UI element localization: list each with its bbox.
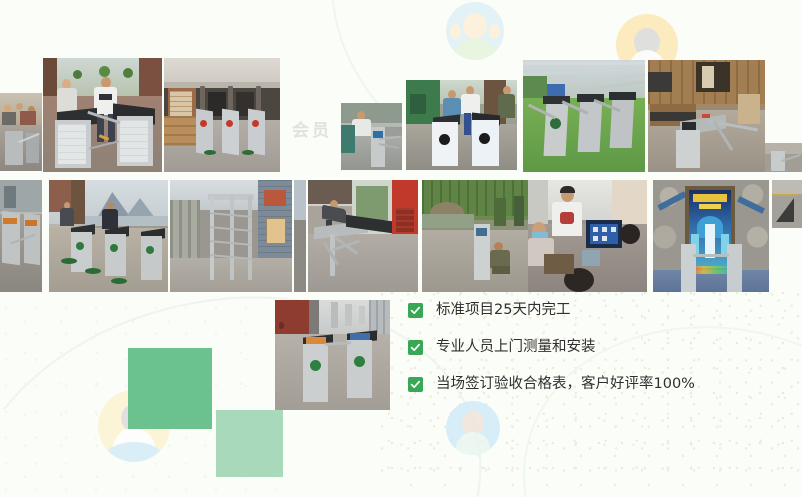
avatar-top-left-icon	[446, 2, 504, 60]
feature-label: 专业人员上门测量和安装	[436, 340, 596, 355]
gallery-photo	[341, 103, 402, 170]
feature-label: 当场签订验收合格表，客户好评率100%	[436, 377, 695, 392]
feature-label: 标准项目25天内完工	[436, 303, 570, 318]
gallery-photo	[294, 180, 306, 292]
gallery-photo	[528, 180, 647, 292]
gallery-photo	[0, 180, 42, 292]
gallery-photo	[0, 93, 42, 171]
feature-item: 当场签订验收合格表，客户好评率100%	[408, 377, 738, 392]
accent-square-small	[216, 410, 283, 477]
check-icon	[408, 340, 423, 355]
gallery-photo	[422, 180, 533, 292]
gallery-photo	[765, 143, 802, 172]
gallery-photo	[653, 180, 769, 292]
gallery-photo	[49, 180, 168, 292]
gallery-photo	[275, 300, 390, 410]
feature-item: 标准项目25天内完工	[408, 303, 738, 318]
check-icon	[408, 303, 423, 318]
gallery-photo	[170, 180, 292, 292]
gallery-photo	[308, 180, 418, 292]
watermark-text: 会员	[292, 116, 332, 141]
check-icon	[408, 377, 423, 392]
gallery-photo	[406, 80, 517, 170]
feature-list: 标准项目25天内完工 专业人员上门测量和安装 当场签订验收合格表，客户好评率10…	[408, 303, 738, 414]
gallery-photo	[648, 60, 765, 172]
gallery-photo	[772, 180, 802, 228]
feature-item: 专业人员上门测量和安装	[408, 340, 738, 355]
accent-square-large	[128, 348, 212, 429]
gallery-photo	[164, 58, 280, 172]
gallery-photo	[523, 60, 645, 172]
gallery-photo	[43, 58, 162, 172]
